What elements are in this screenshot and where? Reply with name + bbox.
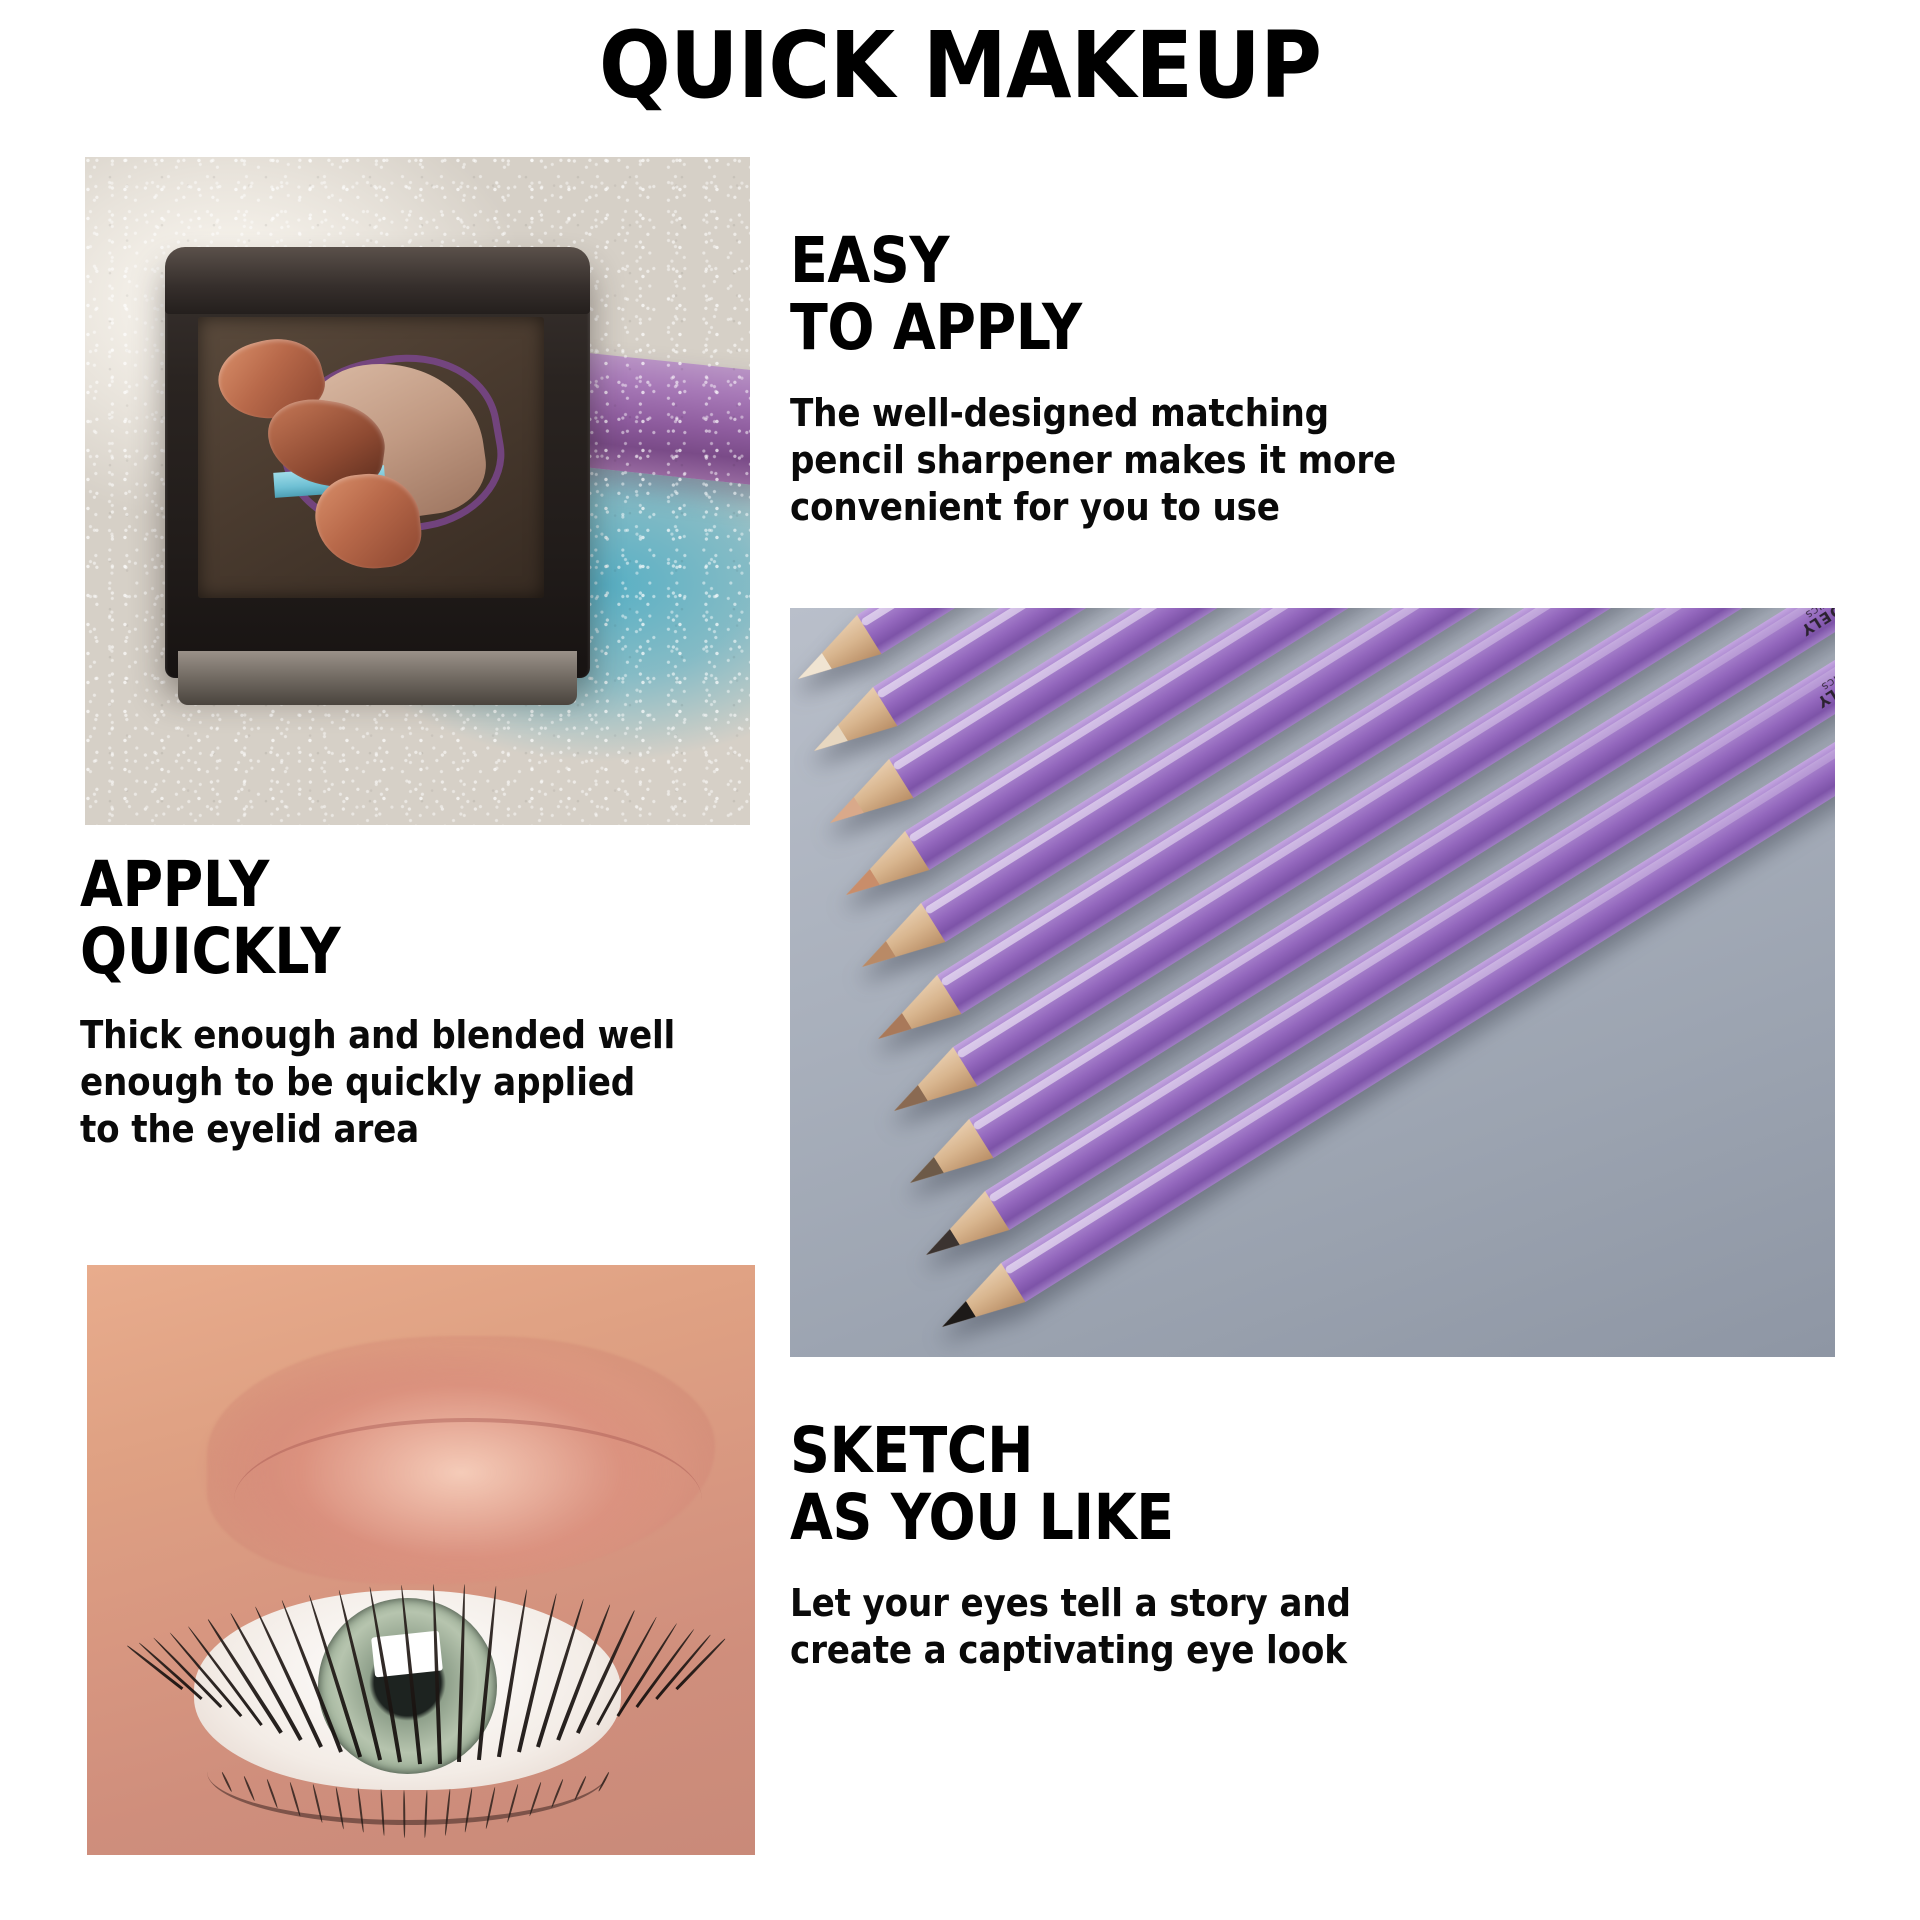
pencil-lead bbox=[790, 641, 839, 698]
page-title: QUICK MAKEUP bbox=[77, 20, 1843, 112]
lower-lash-line bbox=[207, 1761, 608, 1825]
pencil-lead bbox=[898, 1145, 951, 1202]
pencil-brand-subtext: COSMETICS bbox=[1824, 715, 1835, 769]
feature-body-text: Let your eyes tell a story and create a … bbox=[790, 1580, 1351, 1674]
feature-heading-line2: TO APPLY bbox=[790, 295, 1383, 362]
feature-sketch-as-you-like: SKETCH AS YOU LIKE Let your eyes tell a … bbox=[790, 1418, 1413, 1674]
pencil-lead bbox=[930, 1289, 983, 1346]
sharpener-chamber bbox=[198, 317, 544, 598]
feature-apply-quickly: APPLY QUICKLY Thick enough and blended w… bbox=[80, 852, 741, 1153]
pencil-lead bbox=[818, 785, 871, 842]
pencil-lead bbox=[850, 929, 903, 986]
pencil-lead bbox=[882, 1073, 935, 1130]
iris bbox=[318, 1598, 498, 1775]
pencil-lead bbox=[866, 1001, 919, 1058]
feature-heading-line1: EASY bbox=[790, 228, 1383, 295]
feature-heading-line1: APPLY bbox=[80, 852, 662, 919]
photo-pencil-sharpener bbox=[85, 157, 750, 825]
marketing-poster: QUICK MAKEUP EASY TO APPLY The well-desi… bbox=[0, 0, 1920, 1920]
eyelash bbox=[126, 1645, 183, 1690]
feature-easy-to-apply: EASY TO APPLY The well-designed matching… bbox=[790, 228, 1463, 531]
feature-body-text: Thick enough and blended well enough to … bbox=[80, 1012, 675, 1153]
feature-body-text: The well-designed matching pencil sharpe… bbox=[790, 390, 1396, 531]
pencil-lead bbox=[914, 1217, 967, 1274]
sharpener-base-ridge bbox=[178, 651, 577, 704]
pencil-lead bbox=[834, 857, 887, 914]
feature-heading-line1: SKETCH bbox=[790, 1418, 1338, 1485]
feature-heading-line2: AS YOU LIKE bbox=[790, 1485, 1338, 1552]
sharpener-top-lip bbox=[165, 247, 591, 314]
photo-eyeliner-pencils: ZHCOELYCOSMETICSZHCOELYCOSMETICSZHCOELYC… bbox=[790, 608, 1835, 1357]
pencil-brand-text: ZHCOELYCOSMETICS bbox=[1792, 608, 1835, 638]
feature-heading-line2: QUICKLY bbox=[80, 919, 662, 986]
eyelash bbox=[138, 1641, 202, 1699]
pencil-lead bbox=[802, 713, 855, 770]
photo-eye-closeup bbox=[87, 1265, 755, 1855]
